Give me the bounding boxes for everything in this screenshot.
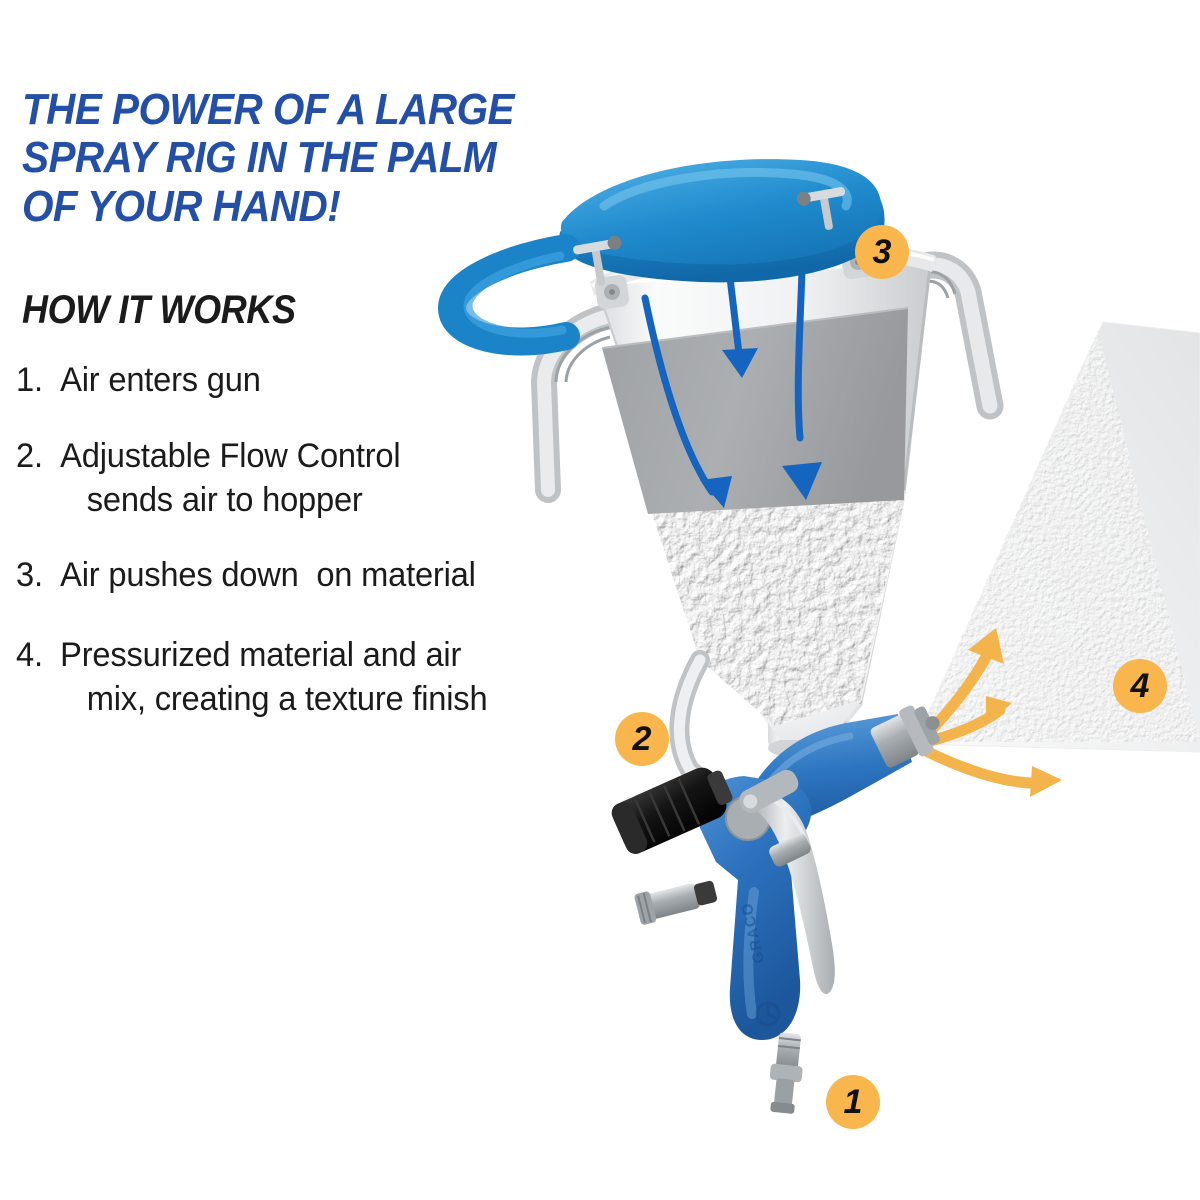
hopper-cutaway-panel bbox=[602, 308, 908, 514]
gun-barrel bbox=[744, 714, 912, 830]
infographic-poster: GRACO bbox=[0, 0, 1200, 1200]
trigger bbox=[736, 766, 835, 994]
step-text-3: Air pushes down on material bbox=[60, 553, 592, 597]
spray-nozzle bbox=[867, 697, 950, 773]
step-text-4: Pressurized material and air mix, creati… bbox=[60, 633, 592, 721]
callout-badge-4: 4 bbox=[1113, 659, 1167, 713]
hopper-lid-latches bbox=[572, 185, 851, 290]
spray-direction-arrows bbox=[920, 645, 1045, 783]
step-item-1: 1. Air enters gun bbox=[16, 358, 592, 402]
callout-badge-3: 3 bbox=[855, 225, 909, 279]
svg-text:GRACO: GRACO bbox=[738, 901, 767, 965]
callout-badge-2: 2 bbox=[615, 712, 669, 766]
air-flow-arrows bbox=[645, 270, 802, 492]
graco-logo: GRACO bbox=[738, 901, 779, 1025]
air-inlet-fitting bbox=[766, 1032, 806, 1115]
step-number-4: 4. bbox=[16, 633, 60, 677]
hopper-lid-clamps bbox=[594, 244, 876, 310]
hopper-material bbox=[630, 480, 930, 760]
step-item-4: 4. Pressurized material and air mix, cre… bbox=[16, 633, 592, 721]
gun-body bbox=[699, 776, 811, 1040]
flow-control-knob bbox=[608, 760, 738, 857]
hopper-body bbox=[596, 262, 932, 759]
subheading-how-it-works: HOW IT WORKS bbox=[22, 288, 296, 333]
air-tube bbox=[679, 660, 737, 807]
gun-side-fitting bbox=[634, 875, 719, 925]
callout-badge-1: 1 bbox=[826, 1075, 880, 1129]
step-item-2: 2. Adjustable Flow Control sends air to … bbox=[16, 434, 592, 522]
step-number-1: 1. bbox=[16, 358, 60, 402]
how-it-works-steps: 1. Air enters gun 2. Adjustable Flow Con… bbox=[16, 358, 616, 721]
air-flow-arrow-heads bbox=[700, 348, 822, 508]
step-number-2: 2. bbox=[16, 434, 60, 478]
step-text-1: Air enters gun bbox=[60, 358, 592, 402]
headline: THE POWER OF A LARGE SPRAY RIG IN THE PA… bbox=[22, 86, 556, 231]
carry-handle-right bbox=[880, 265, 990, 406]
step-text-2: Adjustable Flow Control sends air to hop… bbox=[60, 434, 592, 522]
spray-arrow-heads bbox=[968, 628, 1062, 797]
step-item-3: 3. Air pushes down on material bbox=[16, 553, 592, 597]
step-number-3: 3. bbox=[16, 553, 60, 597]
